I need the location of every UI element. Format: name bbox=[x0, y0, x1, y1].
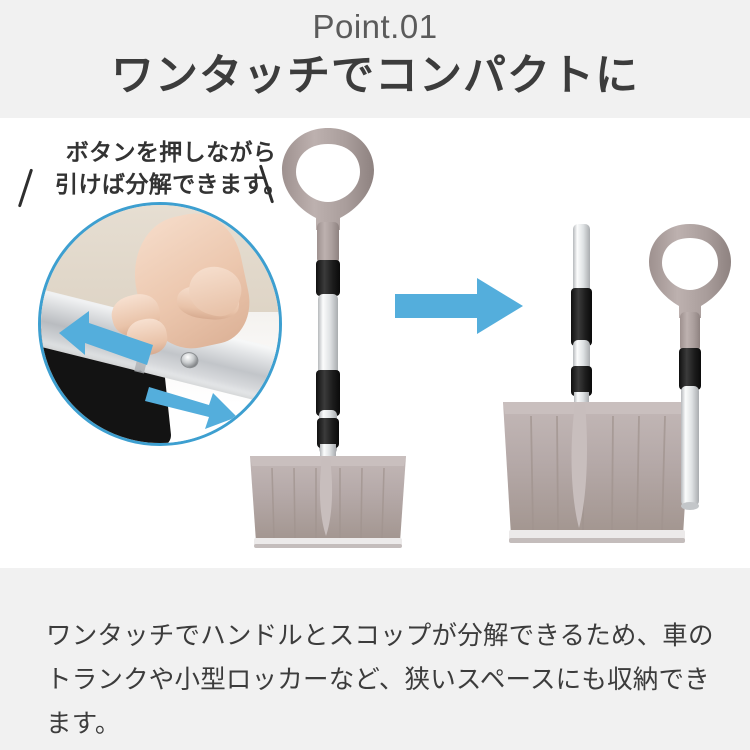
handle-collar bbox=[679, 348, 701, 390]
handle-pole-end bbox=[681, 502, 699, 510]
scoop-collar-lower bbox=[571, 366, 592, 396]
arrow-down-right-icon bbox=[145, 387, 237, 429]
handle-neck-detached bbox=[680, 312, 700, 352]
point-label: Point.01 bbox=[0, 8, 750, 46]
d-grip-handle bbox=[282, 128, 374, 230]
callout-slash-left-icon bbox=[18, 169, 33, 208]
pole-collar-upper bbox=[316, 260, 340, 296]
handle-pole bbox=[681, 386, 699, 506]
description-band: ワンタッチでハンドルとスコップが分解できるため、車のトランクや小型ロッカーなど、… bbox=[0, 568, 750, 750]
description-text: ワンタッチでハンドルとスコップが分解できるため、車のトランクや小型ロッカーなど、… bbox=[46, 614, 716, 746]
handle-neck bbox=[317, 222, 339, 264]
product-stage: ボタンを押しながら 引けば分解できます。 bbox=[0, 118, 750, 568]
pole-collar-lower bbox=[317, 418, 339, 448]
scoop-blade bbox=[250, 456, 406, 548]
d-grip-handle-detached bbox=[649, 224, 731, 318]
header-band: Point.01 ワンタッチでコンパクトに bbox=[0, 0, 750, 118]
detached-handle bbox=[645, 218, 735, 518]
pole-collar-middle bbox=[316, 370, 340, 416]
page-title: ワンタッチでコンパクトに bbox=[0, 48, 750, 104]
arrow-up-left-icon bbox=[59, 311, 153, 365]
scoop-collar-upper bbox=[571, 288, 592, 346]
infographic-page: Point.01 ワンタッチでコンパクトに ボタンを押しながら 引けば分解できま… bbox=[0, 0, 750, 750]
assembled-shovel bbox=[238, 118, 418, 558]
scoop-pole-upper bbox=[573, 224, 590, 294]
